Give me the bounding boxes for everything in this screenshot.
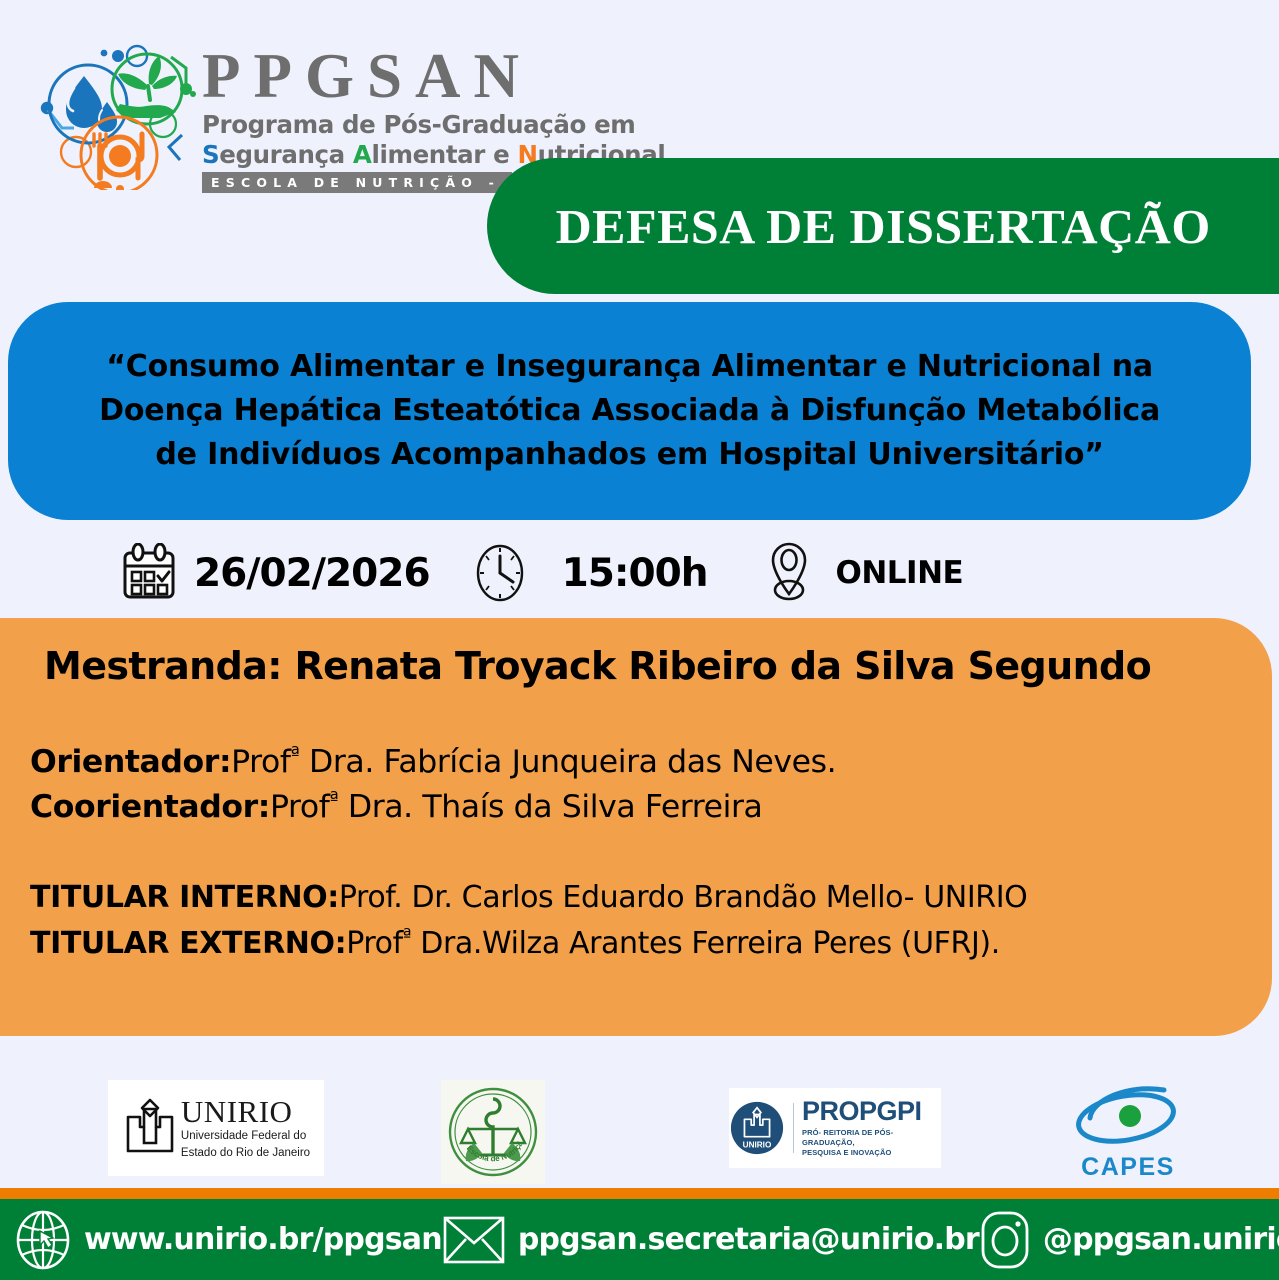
- capes-name: CAPES: [1068, 1153, 1188, 1182]
- unirio-logo: UNIRIO Universidade Federal do Estado do…: [108, 1080, 324, 1176]
- unirio-sub-2: Estado do Rio de Janeiro: [181, 1146, 310, 1160]
- capes-logo: CAPES: [1064, 1082, 1192, 1182]
- instagram-icon: [979, 1209, 1031, 1271]
- logo-a: A: [353, 140, 372, 169]
- website-item[interactable]: www.unirio.br/ppgsan: [14, 1209, 442, 1271]
- internal-member-line: TITULAR INTERNO:Prof. Dr. Carlos Eduardo…: [30, 875, 1232, 921]
- coadvisor-sup: ª: [329, 787, 338, 810]
- thesis-title-line-1: “Consumo Alimentar e Insegurança Aliment…: [99, 345, 1160, 389]
- envelope-icon: [442, 1213, 506, 1267]
- logo-s: S: [202, 140, 219, 169]
- footer-orange-stripe: [0, 1188, 1279, 1199]
- capes-logo-icon: [1068, 1082, 1188, 1148]
- logo-alimentar: limentar e: [371, 140, 517, 169]
- propgpi-name: PROPGPI: [802, 1098, 941, 1125]
- propgpi-logo: UNIRIO PROPGPI PRÓ- REITORIA DE PÓS-GRAD…: [729, 1088, 941, 1168]
- map-pin-icon: [765, 540, 813, 606]
- propgpi-sub-1: PRÓ- REITORIA DE PÓS-GRADUAÇÃO,: [802, 1128, 941, 1148]
- escola-nutricao-logo: Escola de Nutrição da Unirio: [441, 1080, 545, 1184]
- unirio-text-block: UNIRIO Universidade Federal do Estado do…: [181, 1096, 310, 1159]
- thesis-title-line-3: de Indivíduos Acompanhados em Hospital U…: [99, 433, 1160, 477]
- external-prefix: Prof: [346, 926, 403, 961]
- unirio-emblem-icon: [122, 1097, 178, 1159]
- sponsor-logos-row: UNIRIO Universidade Federal do Estado do…: [0, 1074, 1279, 1188]
- propgpi-emblem-icon: UNIRIO: [729, 1099, 785, 1157]
- advisor-name: Dra. Fabrícia Junqueira das Neves.: [299, 744, 836, 780]
- coadvisor-line: Coorientador:Profª Dra. Thaís da Silva F…: [30, 785, 1232, 830]
- logo-acronym: PPGSAN: [202, 46, 665, 108]
- external-name: Dra.Wilza Arantes Ferreira Peres (UFRJ).: [411, 926, 1000, 961]
- website-text: www.unirio.br/ppgsan: [84, 1222, 442, 1257]
- calendar-icon: [120, 543, 178, 603]
- event-date: 26/02/2026: [194, 551, 430, 596]
- external-label: TITULAR EXTERNO:: [30, 926, 346, 961]
- escola-nutricao-seal-icon: Escola de Nutrição da Unirio: [444, 1083, 542, 1181]
- clock-icon: [474, 542, 526, 604]
- event-time: 15:00h: [562, 551, 708, 596]
- svg-text:UNIRIO: UNIRIO: [743, 1140, 772, 1149]
- external-sup: ª: [403, 926, 411, 947]
- propgpi-sub-2: PESQUISA E INOVAÇÃO: [802, 1148, 941, 1158]
- advisor-label: Orientador:: [30, 744, 231, 780]
- internal-label: TITULAR INTERNO:: [30, 880, 339, 915]
- coadvisor-prefix: Prof: [270, 789, 329, 825]
- student-line: Mestranda: Renata Troyack Ribeiro da Sil…: [30, 644, 1232, 688]
- email-item[interactable]: ppgsan.secretaria@unirio.br: [442, 1213, 979, 1267]
- unirio-logo-inner: UNIRIO Universidade Federal do Estado do…: [122, 1096, 310, 1159]
- ppgsan-logo: PPGSAN Programa de Pós-Graduação em Segu…: [36, 42, 536, 192]
- event-time-item: 15:00h: [474, 542, 708, 604]
- event-location: ONLINE: [835, 555, 963, 591]
- propgpi-divider: [793, 1103, 794, 1153]
- capes-logo-inner: CAPES: [1068, 1082, 1188, 1182]
- logo-subtitle: Programa de Pós-Graduação em: [202, 110, 665, 139]
- event-date-item: 26/02/2026: [120, 543, 430, 603]
- poster-root: PPGSAN Programa de Pós-Graduação em Segu…: [0, 0, 1279, 1280]
- advisors-block: Orientador:Profª Dra. Fabrícia Junqueira…: [30, 740, 1232, 829]
- ppgsan-logo-mark: [36, 42, 196, 190]
- unirio-name: UNIRIO: [181, 1096, 310, 1127]
- external-member-line: TITULAR EXTERNO:Profª Dra.Wilza Arantes …: [30, 921, 1232, 967]
- internal-name: Prof. Dr. Carlos Eduardo Brandão Mello- …: [339, 880, 1028, 915]
- banner-title: DEFESA DE DISSERTAÇÃO: [555, 198, 1210, 255]
- instagram-item[interactable]: @ppgsan.unirio: [979, 1209, 1279, 1271]
- coadvisor-label: Coorientador:: [30, 789, 270, 825]
- contact-footer: www.unirio.br/ppgsan ppgsan.secretaria@u…: [0, 1199, 1279, 1280]
- people-panel: Mestranda: Renata Troyack Ribeiro da Sil…: [0, 618, 1272, 1036]
- globe-icon: [14, 1209, 72, 1271]
- advisor-prefix: Prof: [231, 744, 290, 780]
- propgpi-logo-inner: UNIRIO PROPGPI PRÓ- REITORIA DE PÓS-GRAD…: [729, 1098, 941, 1158]
- thesis-title-line-2: Doença Hepática Esteatótica Associada à …: [99, 389, 1160, 433]
- propgpi-text-block: PROPGPI PRÓ- REITORIA DE PÓS-GRADUAÇÃO, …: [802, 1098, 941, 1158]
- thesis-title-banner: “Consumo Alimentar e Insegurança Aliment…: [8, 302, 1251, 520]
- event-location-item: ONLINE: [765, 540, 963, 606]
- logo-seguranca: egurança: [219, 140, 353, 169]
- coadvisor-name: Dra. Thaís da Silva Ferreira: [338, 789, 762, 825]
- advisor-line: Orientador:Profª Dra. Fabrícia Junqueira…: [30, 740, 1232, 785]
- event-details-row: 26/02/2026 15:00h: [0, 528, 1279, 618]
- logo-school-band: ESCOLA DE NUTRIÇÃO - UNIRIO: [202, 172, 512, 193]
- instagram-text: @ppgsan.unirio: [1043, 1222, 1279, 1257]
- defense-type-banner: DEFESA DE DISSERTAÇÃO: [487, 158, 1279, 294]
- unirio-sub-1: Universidade Federal do: [181, 1129, 310, 1143]
- thesis-title: “Consumo Alimentar e Insegurança Aliment…: [58, 345, 1202, 478]
- committee-block: TITULAR INTERNO:Prof. Dr. Carlos Eduardo…: [30, 875, 1232, 966]
- email-text: ppgsan.secretaria@unirio.br: [518, 1222, 979, 1257]
